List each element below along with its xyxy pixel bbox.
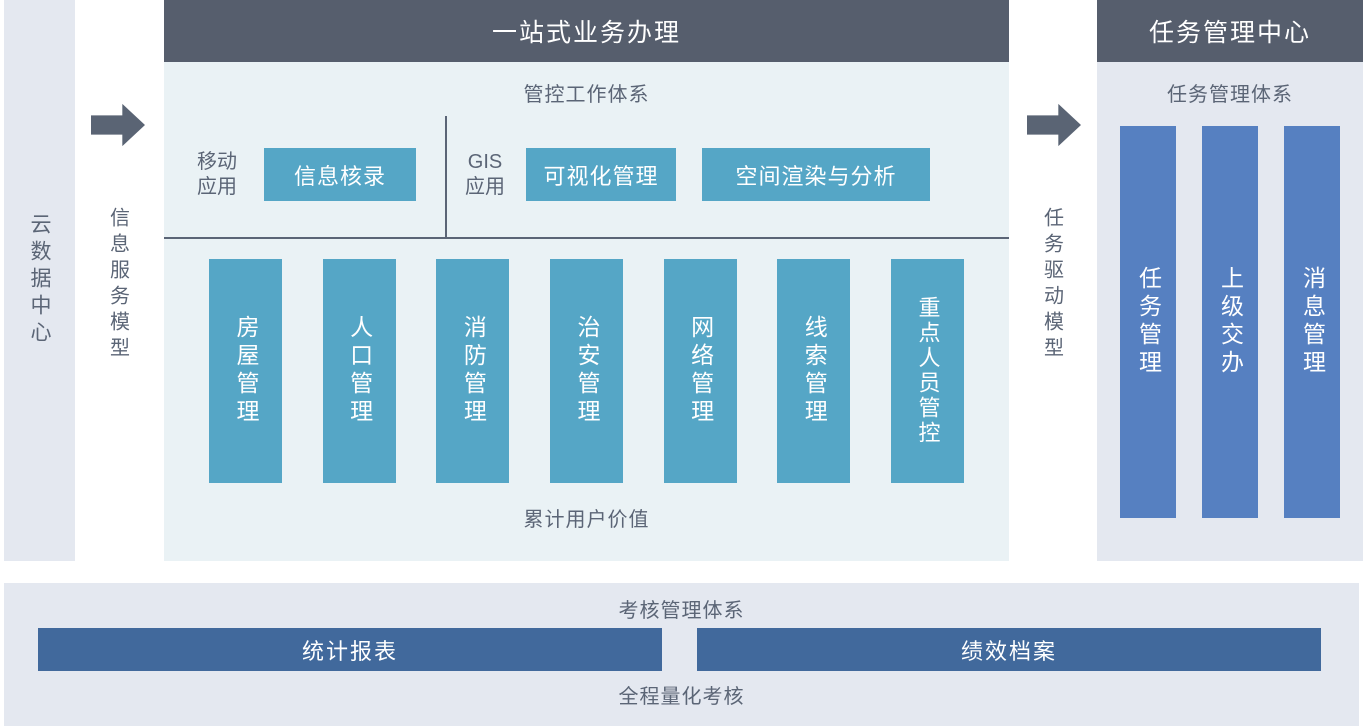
info-service-model-label: 信息服务模型 bbox=[108, 207, 128, 363]
task-card-superior-assignment[interactable]: 上级交办 bbox=[1202, 126, 1258, 518]
cumulative-user-value-footer: 累计用户价值 bbox=[164, 503, 1009, 532]
one-stop-header: 一站式业务办理 bbox=[164, 0, 1009, 62]
assessment-management-panel: 考核管理体系 统计报表 绩效档案 全程量化考核 bbox=[4, 583, 1359, 726]
business-modules-row: 房屋管理 人口管理 消防管理 治安管理 网络管理 线索管理 重点人员管控 bbox=[209, 259, 964, 483]
app-group-gis: GIS 应用 可视化管理 空间渲染与分析 bbox=[460, 112, 930, 237]
app-chip-spatial-render-analysis[interactable]: 空间渲染与分析 bbox=[702, 148, 930, 201]
module-card-housing[interactable]: 房屋管理 bbox=[209, 259, 282, 483]
one-stop-business-panel: 一站式业务办理 管控工作体系 移动 应用 信息核录 GIS 应用 可视化管理 空… bbox=[164, 0, 1009, 561]
app-group-mobile-label: 移动 应用 bbox=[186, 150, 248, 200]
assessment-bars-row: 统计报表 绩效档案 bbox=[38, 628, 1321, 671]
info-service-model-column: 信息服务模型 bbox=[75, 0, 160, 561]
cloud-data-center-label: 云数据中心 bbox=[29, 213, 50, 348]
app-group-mobile: 移动 应用 信息核录 bbox=[186, 112, 416, 237]
application-groups-row: 移动 应用 信息核录 GIS 应用 可视化管理 空间渲染与分析 bbox=[164, 112, 1009, 237]
module-card-population[interactable]: 人口管理 bbox=[323, 259, 396, 483]
task-cards-row: 任务管理 上级交办 消息管理 bbox=[1120, 126, 1340, 518]
assessment-bar-performance-archive[interactable]: 绩效档案 bbox=[697, 628, 1321, 671]
control-work-system-caption: 管控工作体系 bbox=[164, 78, 1009, 107]
apps-section-underline bbox=[164, 237, 1009, 239]
assessment-bar-statistical-report[interactable]: 统计报表 bbox=[38, 628, 662, 671]
app-group-divider bbox=[445, 116, 447, 237]
app-group-gis-label: GIS 应用 bbox=[460, 150, 510, 200]
task-drive-model-label: 任务驱动模型 bbox=[1042, 207, 1062, 363]
task-card-task-management[interactable]: 任务管理 bbox=[1120, 126, 1176, 518]
module-card-key-personnel[interactable]: 重点人员管控 bbox=[891, 259, 964, 483]
right-arrow-icon bbox=[1027, 103, 1081, 147]
task-drive-model-column: 任务驱动模型 bbox=[1009, 0, 1094, 561]
module-card-fire-safety[interactable]: 消防管理 bbox=[436, 259, 509, 483]
one-stop-title: 一站式业务办理 bbox=[492, 13, 681, 49]
app-chip-visual-management[interactable]: 可视化管理 bbox=[526, 148, 676, 201]
task-management-center-panel: 任务管理中心 任务管理体系 任务管理 上级交办 消息管理 bbox=[1097, 0, 1363, 561]
full-process-quantified-assessment-footer: 全程量化考核 bbox=[4, 680, 1359, 709]
info-service-model-label-wrap: 信息服务模型 bbox=[75, 160, 160, 410]
assessment-system-caption: 考核管理体系 bbox=[4, 594, 1359, 623]
module-card-network[interactable]: 网络管理 bbox=[664, 259, 737, 483]
task-management-system-caption: 任务管理体系 bbox=[1097, 78, 1363, 107]
right-arrow-icon bbox=[91, 103, 145, 147]
task-drive-model-label-wrap: 任务驱动模型 bbox=[1009, 160, 1094, 410]
task-card-message-management[interactable]: 消息管理 bbox=[1284, 126, 1340, 518]
module-card-clues[interactable]: 线索管理 bbox=[777, 259, 850, 483]
app-chip-info-entry[interactable]: 信息核录 bbox=[264, 148, 416, 201]
task-center-header: 任务管理中心 bbox=[1097, 0, 1363, 62]
task-center-title: 任务管理中心 bbox=[1149, 13, 1311, 49]
cloud-data-center-panel: 云数据中心 bbox=[4, 0, 75, 561]
module-card-public-security[interactable]: 治安管理 bbox=[550, 259, 623, 483]
